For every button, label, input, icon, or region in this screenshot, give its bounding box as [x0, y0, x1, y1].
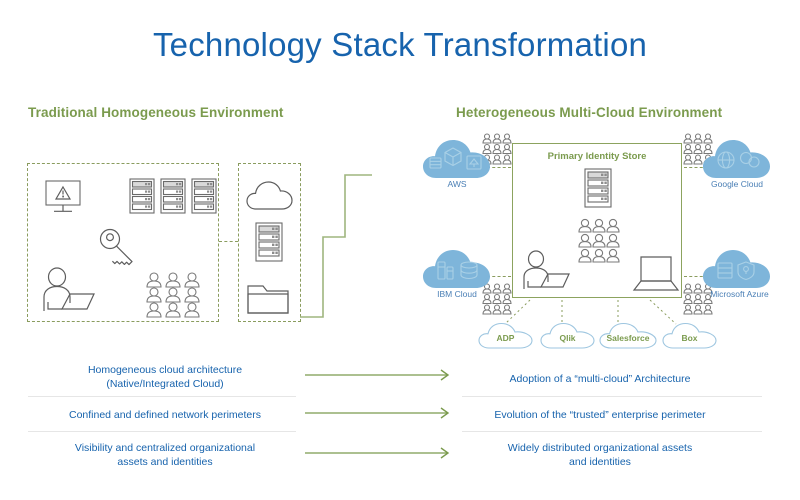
alert-monitor-icon: [44, 178, 84, 218]
transform-arrow: [305, 368, 455, 382]
page-title: Technology Stack Transformation: [0, 26, 800, 64]
row-separator: [462, 431, 762, 432]
comparison-text-line: Adoption of a “multi-cloud” Architecture: [440, 372, 760, 386]
server-rack-icon: [129, 178, 155, 214]
laptop-icon: [632, 251, 680, 293]
google-cloud-label: Google Cloud: [697, 179, 777, 189]
section-heading-left: Traditional Homogeneous Environment: [28, 105, 284, 120]
transform-arrow: [305, 446, 455, 460]
ibm-cloud-icon[interactable]: [422, 248, 492, 290]
comparison-row-right: Widely distributed organizational assets…: [440, 441, 760, 469]
comparison-text-line: assets and identities: [30, 455, 300, 469]
comparison-text-line: and identities: [440, 455, 760, 469]
comparison-text-line: Confined and defined network perimeters: [30, 408, 300, 422]
cloud-outline-icon: [246, 180, 294, 212]
comparison-text-line: Homogeneous cloud architecture: [30, 363, 300, 377]
qlik-cloud-label: Qlik: [540, 333, 595, 343]
comparison-row-right: Evolution of the “trusted” enterprise pe…: [440, 408, 760, 422]
box-cloud-label: Box: [662, 333, 717, 343]
folder-icon: [246, 280, 294, 316]
comparison-text-line: Visibility and centralized organizationa…: [30, 441, 300, 455]
salesforce-cloud-label: Salesforce: [599, 333, 657, 343]
user-laptop-icon: [521, 251, 576, 293]
comparison-text-line: (Native/Integrated Cloud): [30, 377, 300, 391]
comparison-row-left: Homogeneous cloud architecture (Native/I…: [30, 363, 300, 391]
server-rack-icon: [584, 168, 612, 208]
adp-cloud-label: ADP: [478, 333, 533, 343]
comparison-row-right: Adoption of a “multi-cloud” Architecture: [440, 372, 760, 386]
comparison-row-left: Confined and defined network perimeters: [30, 408, 300, 422]
row-separator: [28, 431, 296, 432]
transformation-connector: [300, 160, 375, 325]
comparison-text-line: Widely distributed organizational assets: [440, 441, 760, 455]
key-icon: [98, 227, 142, 271]
server-rack-icon: [191, 178, 217, 214]
user-laptop-icon: [40, 268, 102, 316]
people-grid-icon: [578, 218, 620, 264]
people-grid-icon: [145, 272, 207, 318]
transform-arrow: [305, 406, 455, 420]
microsoft-azure-cloud-icon[interactable]: [702, 248, 772, 290]
primary-identity-store-label: Primary Identity Store: [512, 151, 682, 162]
aws-cloud-label: AWS: [422, 179, 492, 189]
slide-canvas: Technology Stack Transformation Traditio…: [0, 0, 800, 500]
aws-cloud-icon[interactable]: [422, 138, 492, 180]
traditional-boxes-connector: [219, 241, 238, 242]
comparison-text-line: Evolution of the “trusted” enterprise pe…: [440, 408, 760, 422]
row-separator: [28, 396, 296, 397]
google-cloud-icon[interactable]: [702, 138, 772, 180]
section-heading-right: Heterogeneous Multi-Cloud Environment: [456, 105, 722, 120]
server-rack-icon: [160, 178, 186, 214]
server-rack-icon: [255, 222, 283, 262]
row-separator: [462, 396, 762, 397]
comparison-row-left: Visibility and centralized organizationa…: [30, 441, 300, 469]
